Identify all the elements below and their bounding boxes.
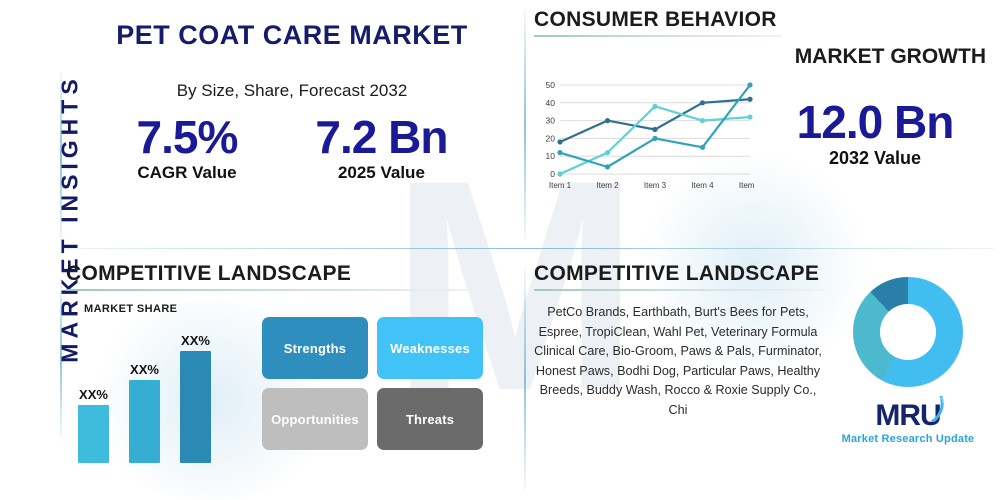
horizontal-divider (60, 248, 994, 249)
consumer-behavior-heading: CONSUMER BEHAVIOR (534, 8, 782, 32)
swot-weaknesses: Weaknesses (377, 317, 483, 379)
donut-column: MRU Market Research Update (822, 277, 994, 445)
market-growth-heading: MARKET GROWTH (534, 45, 994, 69)
market-share-bar-chart: MARKET SHARE XX%XX%XX% (66, 303, 248, 463)
swot-weaknesses-label: Weaknesses (390, 341, 470, 356)
competitive-right-heading: COMPETITIVE LANDSCAPE (534, 262, 824, 286)
svg-text:Item 3: Item 3 (644, 181, 667, 190)
donut-hole (880, 304, 936, 360)
market-growth-label: 2032 Value (756, 148, 994, 169)
heading-rule (534, 289, 824, 291)
bar (78, 405, 109, 463)
donut-chart (853, 277, 963, 387)
market-share-title: MARKET SHARE (84, 303, 177, 315)
kpi-2025: 7.2 Bn 2025 Value (315, 113, 447, 183)
bar-value-label: XX% (79, 387, 108, 402)
consumer-behavior-panel: CONSUMER BEHAVIOR MARKET GROWTH 01020304… (534, 8, 994, 246)
kpi-cagr: 7.5% CAGR Value (137, 113, 238, 183)
bar-value-label: XX% (181, 333, 210, 348)
company-list: PetCo Brands, Earthbath, Burt's Bees for… (534, 299, 822, 445)
swot-opportunities: Opportunities (262, 388, 368, 450)
logo-subtitle: Market Research Update (842, 433, 975, 445)
center-vertical-divider-bottom (524, 268, 526, 490)
page-title: PET COAT CARE MARKET (66, 20, 518, 51)
swot-threats: Threats (377, 388, 483, 450)
swot-strengths-label: Strengths (284, 341, 346, 356)
swot-strengths: Strengths (262, 317, 368, 379)
competitive-landscape-right-panel: COMPETITIVE LANDSCAPE PetCo Brands, Eart… (534, 262, 994, 494)
swot-threats-label: Threats (406, 412, 454, 427)
logo-mark: MRU (875, 401, 940, 431)
line-chart-svg: 01020304050Item 1Item 2Item 3Item 4Item … (534, 79, 756, 194)
heading-rule (534, 35, 782, 37)
line-chart: 01020304050Item 1Item 2Item 3Item 4Item … (534, 79, 756, 194)
infographic-canvas: M MARKET INSIGHTS PET COAT CARE MARKET B… (0, 0, 1000, 500)
bar (129, 380, 160, 463)
svg-text:Item 1: Item 1 (549, 181, 572, 190)
headline-panel: PET COAT CARE MARKET By Size, Share, For… (66, 8, 518, 246)
bar-value-label: XX% (130, 362, 159, 377)
kpi-row: 7.5% CAGR Value 7.2 Bn 2025 Value (66, 113, 518, 183)
kpi-2025-label: 2025 Value (315, 163, 447, 183)
market-growth-value: 12.0 Bn (756, 98, 994, 146)
market-growth-kpi: 12.0 Bn 2032 Value (756, 98, 994, 175)
logo-swoosh-icon (931, 396, 944, 422)
page-subtitle: By Size, Share, Forecast 2032 (66, 81, 518, 101)
swot-opportunities-label: Opportunities (271, 412, 359, 427)
competitive-left-heading: COMPETITIVE LANDSCAPE (66, 262, 486, 286)
kpi-cagr-label: CAGR Value (137, 163, 238, 183)
heading-rule (66, 289, 486, 291)
svg-text:Item 4: Item 4 (691, 181, 714, 190)
svg-text:Item 5: Item 5 (739, 181, 756, 190)
bar-group: XX%XX%XX% (78, 318, 211, 463)
svg-text:Item 2: Item 2 (596, 181, 619, 190)
bar-column: XX% (180, 318, 211, 463)
bar-column: XX% (78, 318, 109, 463)
svg-text:50: 50 (546, 80, 556, 90)
bar (180, 351, 211, 463)
svg-text:0: 0 (550, 169, 555, 179)
mru-logo: MRU Market Research Update (842, 401, 975, 445)
kpi-2025-value: 7.2 Bn (315, 113, 447, 161)
swot-grid: Strengths Weaknesses Opportunities Threa… (262, 317, 483, 463)
svg-text:10: 10 (546, 151, 556, 161)
svg-text:30: 30 (546, 116, 556, 126)
svg-text:20: 20 (546, 133, 556, 143)
bar-column: XX% (129, 318, 160, 463)
kpi-cagr-value: 7.5% (137, 113, 238, 161)
svg-text:40: 40 (546, 98, 556, 108)
competitive-landscape-left-panel: COMPETITIVE LANDSCAPE MARKET SHARE XX%XX… (66, 262, 518, 494)
center-vertical-divider-top (524, 10, 526, 240)
